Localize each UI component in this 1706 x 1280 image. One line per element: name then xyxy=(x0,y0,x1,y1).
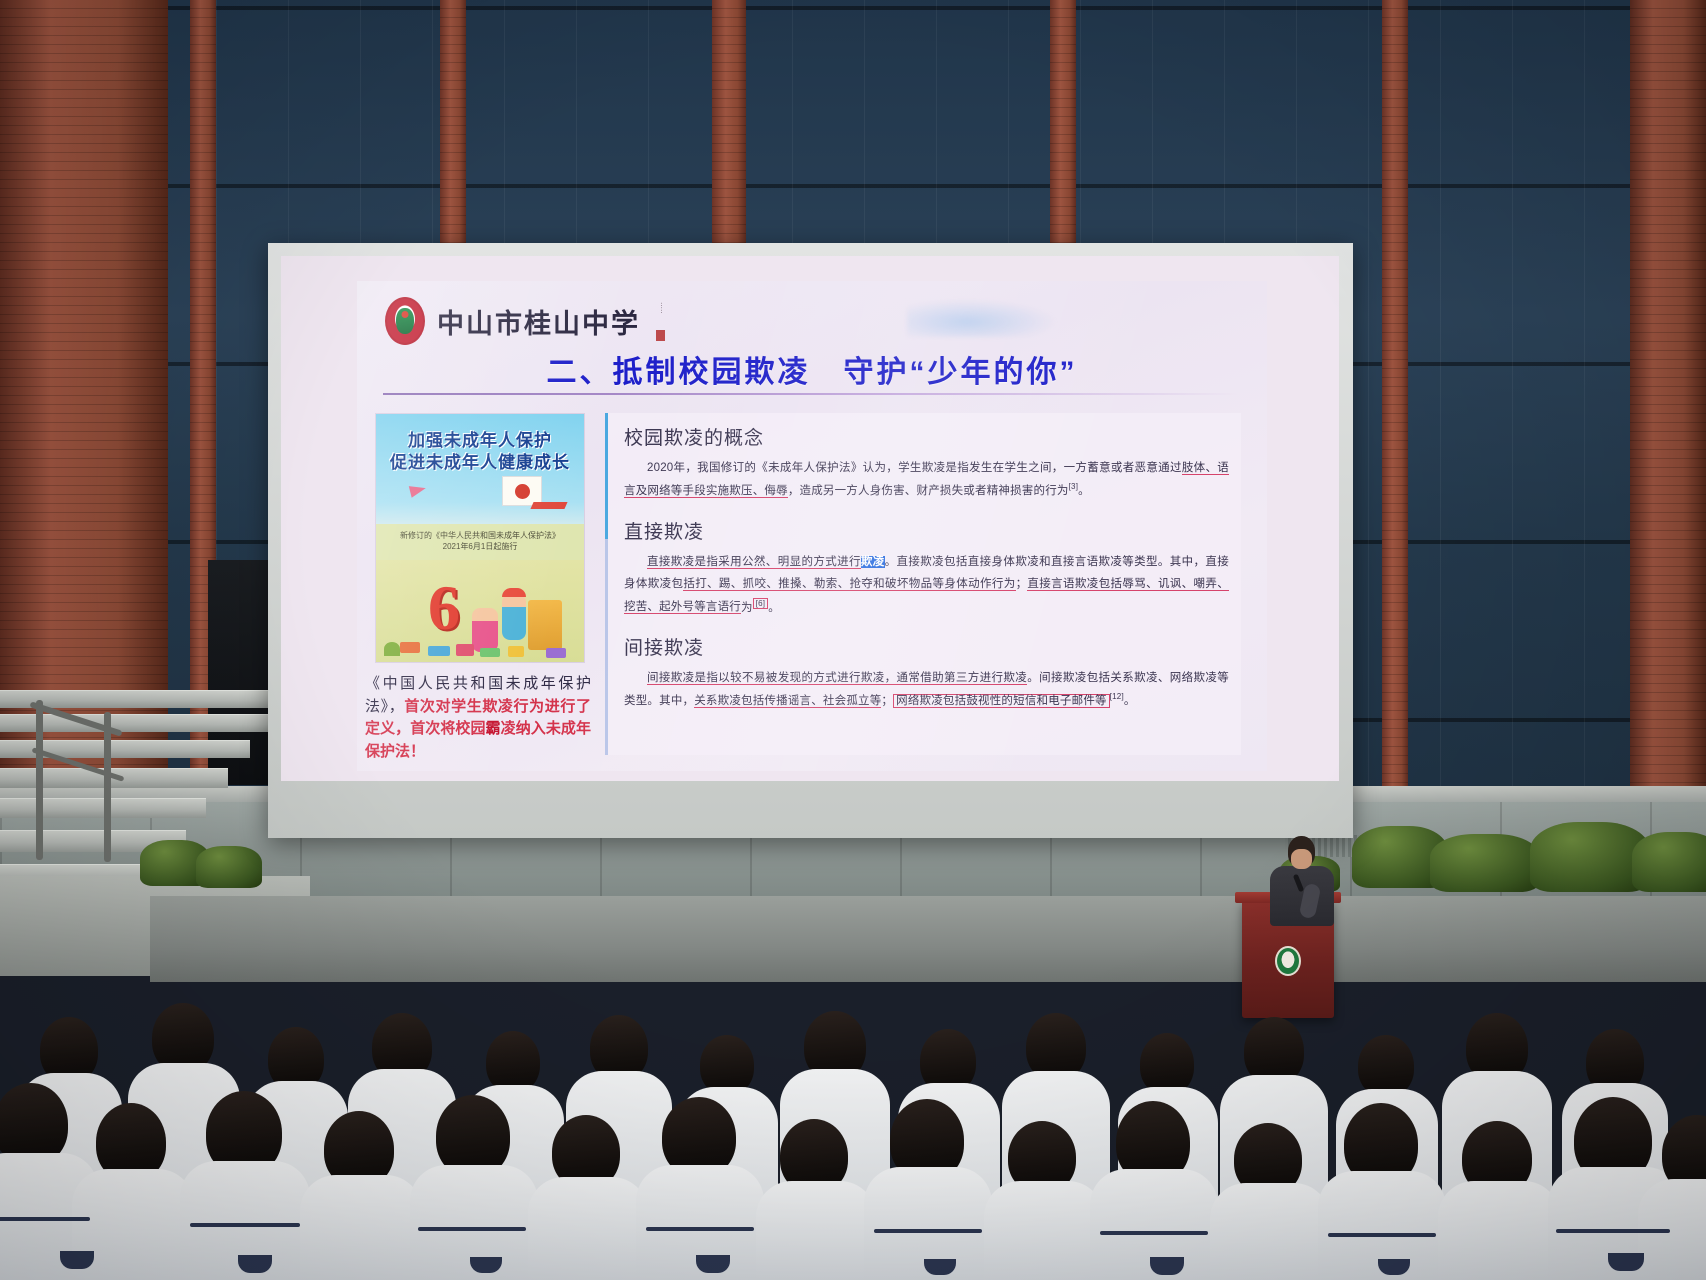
brick-mullion xyxy=(1382,0,1408,900)
hedge-bush xyxy=(196,846,262,888)
section-body-concept: 2020年，我国修订的《未成年人保护法》认为，学生欺凌是指发生在学生之间，一方蓄… xyxy=(624,457,1229,503)
protection-law-poster: 加强未成年人保护 促进未成年人健康成长 新修订的《中华人民共和国未成年人保护法》… xyxy=(375,413,585,663)
section-heading-indirect: 间接欺凌 xyxy=(624,633,1229,660)
presentation-slide: 中山市桂山中学 ····· 二、抵制校园欺凌 守护“少年的你” 加强未成年人保护… xyxy=(357,281,1267,771)
child-figure-icon xyxy=(502,594,526,640)
poster-big-number: 6 xyxy=(428,576,460,640)
poster-caption: 新修订的《中华人民共和国未成年人保护法》 2021年6月1日起施行 xyxy=(376,524,584,560)
text-segment: 。 xyxy=(768,601,780,613)
text-segment: 。 xyxy=(1124,695,1136,707)
stair-railing-post xyxy=(104,712,111,862)
title-divider xyxy=(383,393,1239,395)
paper-plane-icon xyxy=(409,482,427,498)
uniform-collar xyxy=(696,1255,730,1273)
uniform-stripe xyxy=(0,1217,90,1221)
grass-icon xyxy=(384,642,400,656)
note-part-3: 首次对学生欺凌行 xyxy=(404,699,529,715)
stair-railing-post xyxy=(36,700,43,860)
uniform-collar xyxy=(60,1251,94,1269)
uniform-stripe xyxy=(646,1227,754,1231)
speaker-face xyxy=(1291,849,1312,869)
uniform-stripe xyxy=(1328,1233,1436,1237)
section-heading-direct: 直接欺凌 xyxy=(624,517,1229,544)
hedge-bush xyxy=(1430,834,1540,892)
uniform-stripe xyxy=(874,1229,982,1233)
text-segment-underlined: 括打、踢、抓咬、推搡、勒索、抢夺和破坏物品等身体动作行为 xyxy=(683,578,1015,591)
section-body-indirect: 间接欺凌是指以较不易被发现的方式进行欺凌，通常借助第三方进行欺凌。间接欺凌包括关… xyxy=(624,667,1229,713)
school-crest-icon xyxy=(385,297,425,345)
text-segment-boxed: 网络欺凌包括鼓视性的短信和电子邮件等 xyxy=(893,694,1110,708)
slide-title: 二、抵制校园欺凌 守护“少年的你” xyxy=(357,347,1267,391)
toy-block-icon xyxy=(400,642,420,653)
uniform-collar xyxy=(1378,1259,1410,1275)
calligraphy-seal-icon: ····· xyxy=(656,302,665,341)
text-segment: 。 xyxy=(1078,485,1090,497)
citation-ref: [12] xyxy=(1110,692,1124,701)
section-body-direct: 直接欺凌是指采用公然、明显的方式进行欺凌。直接欺凌包括直接身体欺凌和直接言语欺凌… xyxy=(624,551,1229,619)
poster-caption-line-1: 新修订的《中华人民共和国未成年人保护法》 xyxy=(400,531,560,542)
text-segment: 中， xyxy=(671,695,694,707)
text-segment: 2020年，我国修订的《未成年人保护法》认为，学生欺凌是指发生在学生之间，一方蓄… xyxy=(647,462,1182,474)
poster-caption-line-2: 2021年6月1日起施行 xyxy=(443,542,518,553)
text-segment-underlined: 关系欺凌包括传播谣言、社会孤立等 xyxy=(694,695,881,708)
hedge-bush xyxy=(1632,832,1706,892)
student-crowd xyxy=(0,955,1706,1280)
toy-block-icon xyxy=(546,648,566,658)
uniform-collar xyxy=(924,1259,956,1275)
assembly-scene: 中山市桂山中学 ····· 二、抵制校园欺凌 守护“少年的你” 加强未成年人保护… xyxy=(0,0,1706,1280)
uniform-stripe xyxy=(190,1223,300,1227)
toy-block-icon xyxy=(456,644,474,656)
uniform-collar xyxy=(238,1255,272,1273)
content-panel: 校园欺凌的概念 2020年，我国修订的《未成年人保护法》认为，学生欺凌是指发生在… xyxy=(605,413,1241,755)
uniform-collar xyxy=(1608,1253,1644,1271)
citation-ref: [6] xyxy=(753,598,769,609)
citation-ref: [3] xyxy=(1069,482,1079,491)
uniform-stripe xyxy=(1100,1231,1208,1235)
note-part-1: 《中国人民共和国未成年保 xyxy=(365,676,576,692)
ribbon-decoration xyxy=(530,502,567,509)
text-segment: 为 xyxy=(741,601,753,613)
slide-header: 中山市桂山中学 ····· xyxy=(385,297,665,345)
panel-accent-bar xyxy=(605,413,608,539)
text-segment-underlined: 间接欺凌是指以较不易被发现的方式进行欺凌，通常借助第三方进行欺凌 xyxy=(647,672,1027,685)
uniform-collar xyxy=(470,1257,502,1273)
school-name: 中山市桂山中学 xyxy=(437,302,640,341)
uniform-stripe xyxy=(418,1227,526,1231)
text-segment: ； xyxy=(1016,578,1028,590)
section-heading-concept: 校园欺凌的概念 xyxy=(624,423,1229,450)
text-segment: ，造成另一方人身伤害、财产损失或者精神损害的行为 xyxy=(788,485,1069,497)
child-hat-icon xyxy=(502,588,526,597)
uniform-collar xyxy=(1150,1257,1184,1275)
poster-illustration: 6 xyxy=(376,560,584,663)
text-segment-underlined: 直接欺凌是指采用公然、明显的方式进行 xyxy=(647,556,861,569)
toy-block-icon xyxy=(508,646,524,657)
cloud-decoration xyxy=(907,299,1057,337)
brick-pier-right xyxy=(1630,0,1706,900)
toy-block-icon xyxy=(480,648,500,657)
text-segment: ； xyxy=(881,695,893,707)
toy-block-icon xyxy=(428,646,450,656)
note-part-5: 霸 xyxy=(486,721,501,737)
left-caption-note: 《中国人民共和国未成年保护法》，首次对学生欺凌行为进行了定义，首次将校园霸凌纳入… xyxy=(365,673,591,763)
text-segment-highlighted: 欺凌 xyxy=(861,556,885,568)
child-figure-icon xyxy=(472,608,498,652)
uniform-stripe xyxy=(1556,1229,1670,1233)
toy-block-icon xyxy=(528,600,562,650)
poster-headline-2: 促进未成年人健康成长 xyxy=(376,448,584,473)
